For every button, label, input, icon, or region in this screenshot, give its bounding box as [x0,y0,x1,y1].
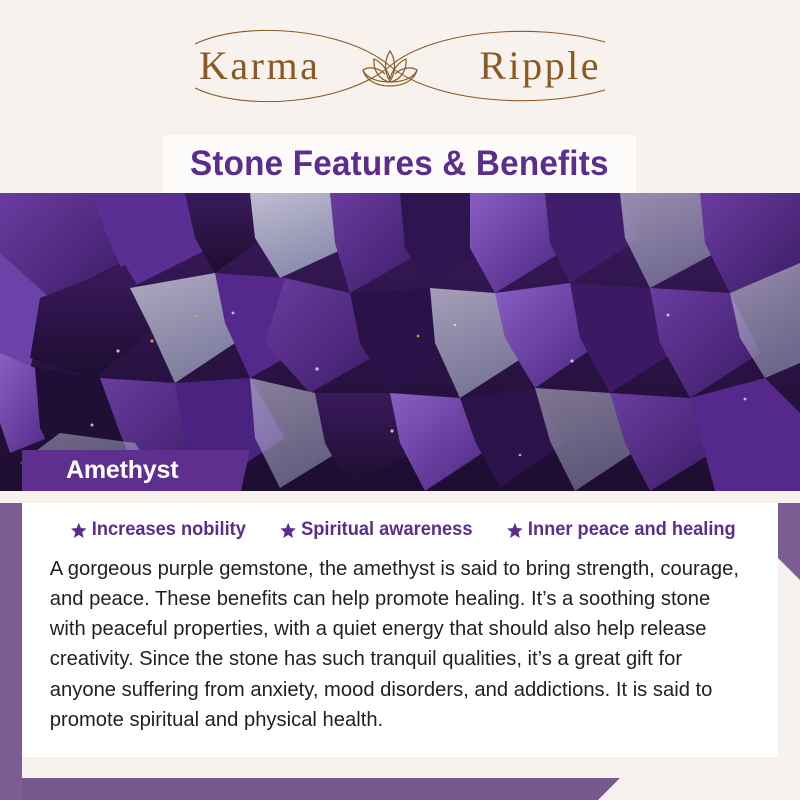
frame-left-bar [0,489,22,800]
header: Karma Ripple [0,0,800,118]
benefit-item-1: Increases nobility [71,519,246,541]
stone-description: A gorgeous purple gemstone, the amethyst… [36,554,753,735]
brand-name-right: Ripple [479,42,601,89]
benefits-list: Increases nobility Spiritual awareness I… [36,519,764,541]
stone-info-card: Karma Ripple Stone Features & Benefits [0,0,800,800]
star-icon [280,522,296,539]
content-separator [0,491,800,503]
title-plate: Stone Features & Benefits [163,135,636,193]
star-icon [507,522,523,539]
page-title: Stone Features & Benefits [190,144,609,184]
brand-logo: Karma Ripple [185,26,615,104]
benefit-label: Increases nobility [92,519,246,541]
stone-photo [0,193,800,491]
brand-name-left: Karma [199,42,320,89]
title-band: Stone Features & Benefits [0,118,800,193]
benefit-item-2: Spiritual awareness [280,519,472,541]
stone-name-banner: Amethyst [22,450,250,491]
benefit-label: Spiritual awareness [301,519,472,541]
frame-bottom-bar [0,778,620,800]
content-panel: Increases nobility Spiritual awareness I… [22,503,778,757]
stone-name-label: Amethyst [66,456,178,485]
amethyst-crystal-cluster-icon [0,193,800,491]
star-icon [71,522,87,539]
benefit-item-3: Inner peace and healing [507,519,736,541]
benefit-label: Inner peace and healing [528,519,736,541]
